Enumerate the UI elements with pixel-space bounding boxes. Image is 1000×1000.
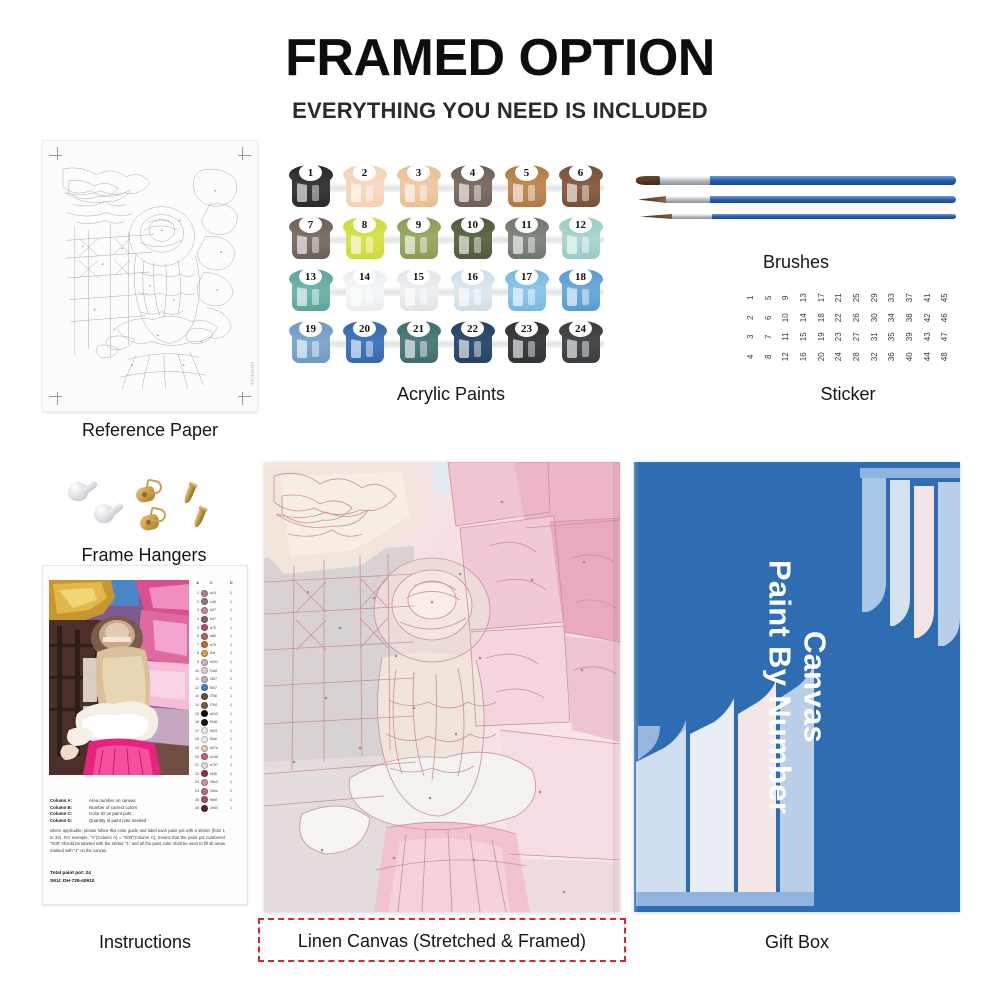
canvas-frame-edge [613,462,620,912]
pot-gloss [459,287,469,306]
pot-gloss [474,237,481,253]
pot-gloss [297,183,307,202]
chart-cell-d: 1 [230,763,236,767]
instructions-sheet: A C D 1a2412c4813b2714b4715a7016a8017a79… [42,565,248,905]
sticker-number: 4 [741,347,761,365]
pot-gloss [405,339,415,358]
chart-cell-a: 17 [191,729,199,733]
chart-swatch [201,641,208,648]
legend-key: Column B: [50,805,84,810]
legend-key: Column A: [50,798,84,803]
chart-cell-d: 1 [230,729,236,733]
paint-pot-17: 17 [504,267,550,313]
chart-row: 15a0101 [191,709,243,718]
sticker-number: 12 [776,347,796,365]
chart-swatch [201,667,208,674]
chart-swatch [201,616,208,623]
pot-number: 3 [407,164,430,181]
instructions-note: where applicable, please follow this col… [50,828,225,854]
screw-icon [183,483,197,504]
chart-cell-a: 6 [191,634,199,638]
chart-cell-d: 1 [230,798,236,802]
sticker-number: 13 [794,289,814,307]
sticker-number: 16 [794,347,814,365]
chart-cell-c: b27 [210,608,228,612]
chart-cell-d: 1 [230,712,236,716]
chart-header-a: A [191,581,199,585]
frame-hangers-group [60,470,228,542]
pot-number: 15 [407,268,430,285]
pot-gloss [420,185,427,201]
chart-cell-d: 1 [230,703,236,707]
chart-cell-a: 1 [191,591,199,595]
chart-swatch [201,659,208,666]
chart-cell-c: a07e [210,746,228,750]
chart-cell-d: 1 [230,772,236,776]
pot-gloss [528,289,535,305]
pot-number: 8 [353,216,376,233]
paint-pot-8: 8 [342,215,388,261]
page-title: FRAMED OPTION [0,28,1000,88]
chart-cell-d: 1 [230,634,236,638]
pot-gloss [312,237,319,253]
chart-cell-a: 19 [191,746,199,750]
instructions-totals: Total paint pot: 24 SKU: DH-729-40910 [50,871,95,886]
legend-key: Column C: [50,811,84,816]
chart-swatch [201,770,208,777]
chart-cell-a: 3 [191,608,199,612]
sticker-number: 24 [829,347,849,365]
chart-row: 21a7971 [191,761,243,770]
reference-paper-sidemark: REFERENCE [250,362,254,385]
chart-cell-c: a80 [210,634,228,638]
chart-cell-c: a148 [210,755,228,759]
chart-cell-d: 1 [230,789,236,793]
chart-cell-a: 5 [191,626,199,630]
chart-swatch [201,727,208,734]
sticker-number: 45 [935,289,955,307]
pot-number: 18 [569,268,592,285]
legend-row: Column D:Quantity of paint pots needed [50,818,200,823]
pot-gloss [459,339,469,358]
chart-swatch [201,736,208,743]
chart-cell-c: 2b50 [210,806,228,810]
legend-row: Column B:Number of correct colors [50,805,200,810]
pot-number: 4 [461,164,484,181]
pot-gloss [405,287,415,306]
pot-number: 5 [515,164,538,181]
pot-gloss [567,235,577,254]
paint-pot-6: 6 [558,163,604,209]
paint-pot-24: 24 [558,319,604,365]
caption-instructions: Instructions [42,932,248,953]
sticker-sheet: 1234567891011121314151617181920212223242… [742,288,954,366]
pot-number: 1 [299,164,322,181]
chart-header-row: A C D [191,578,243,587]
caption-brushes: Brushes [636,252,956,273]
chart-cell-a: 12 [191,686,199,690]
paint-pot-13: 13 [288,267,334,313]
chart-row: 6a801 [191,632,243,641]
sticker-number: 46 [935,308,955,326]
pot-gloss [366,185,373,201]
pot-gloss [420,237,427,253]
sticker-number: 10 [776,308,796,326]
gift-box-edge [634,462,639,912]
pot-gloss [459,183,469,202]
sticker-number: 34 [882,308,902,326]
brush-medium [638,196,956,203]
chart-row: 22f4461 [191,770,243,779]
paint-pot-12: 12 [558,215,604,261]
pot-number: 22 [461,320,484,337]
paint-pot-23: 23 [504,319,550,365]
caption-acrylic-paints: Acrylic Paints [288,384,614,405]
chart-row: 2328c01 [191,778,243,787]
chart-cell-d: 1 [230,660,236,664]
chart-cell-a: 8 [191,651,199,655]
sticker-number: 37 [900,289,920,307]
chart-row: 19a07e1 [191,744,243,753]
chart-cell-c: f446 [210,772,228,776]
chart-cell-c: 28c0 [210,780,228,784]
chart-row: 4b471 [191,615,243,624]
pot-number: 2 [353,164,376,181]
legend-value: Quantity of paint pots needed [89,818,146,823]
pot-gloss [366,341,373,357]
pot-gloss [474,341,481,357]
pot-gloss [405,235,415,254]
chart-row: 20a1481 [191,752,243,761]
pot-gloss [567,183,577,202]
chart-row: 7a791 [191,641,243,650]
pot-number: 17 [515,268,538,285]
chart-cell-c: f007 [210,686,228,690]
chart-cell-c: f948 [210,720,228,724]
chart-row: 9n2011 [191,658,243,667]
chart-swatch [201,779,208,786]
paint-pot-15: 15 [396,267,442,313]
legend-row: Column A:Area number on canvas [50,798,200,803]
chart-swatch [201,684,208,691]
pot-gloss [582,341,589,357]
legend-value: Color ID on paint pots [89,811,131,816]
paint-pot-21: 21 [396,319,442,365]
sticker-number: 23 [829,328,849,346]
chart-row: 18f5e61 [191,735,243,744]
chart-swatch [201,745,208,752]
chart-row: 12f0071 [191,684,243,693]
chart-row: 1a241 [191,589,243,598]
pot-gloss [528,237,535,253]
pot-gloss [474,185,481,201]
chart-cell-c: b47 [210,617,228,621]
pot-number: 16 [461,268,484,285]
chart-cell-c: f756 [210,694,228,698]
sticker-number: 28 [847,347,867,365]
chart-cell-c: a24 [210,591,228,595]
chart-cell-c: f307 [210,677,228,681]
caption-reference-paper: Reference Paper [42,420,258,441]
chart-cell-d: 1 [230,694,236,698]
pot-gloss [420,289,427,305]
chart-header-b [201,579,208,586]
chart-cell-a: 20 [191,755,199,759]
paint-pot-18: 18 [558,267,604,313]
chart-swatch [201,607,208,614]
pot-gloss [420,341,427,357]
caption-linen-canvas: Linen Canvas (Stretched & Framed) [258,931,626,952]
chart-row: 11f3071 [191,675,243,684]
linen-canvas-preview [264,462,620,912]
chart-cell-a: 10 [191,669,199,673]
sticker-number: 35 [882,328,902,346]
chart-cell-a: 15 [191,712,199,716]
sticker-number: 36 [882,347,902,365]
pot-gloss [366,237,373,253]
chart-row: 2430ec1 [191,787,243,796]
chart-cell-a: 11 [191,677,199,681]
pot-gloss [351,339,361,358]
pot-number: 6 [569,164,592,181]
chart-cell-a: 23 [191,780,199,784]
pot-gloss [351,235,361,254]
pot-number: 20 [353,320,376,337]
pot-number: 19 [299,320,322,337]
chart-swatch [201,753,208,760]
chart-cell-c: 30ec [210,789,228,793]
instructions-legend: Column A:Area number on canvasColumn B:N… [50,798,200,824]
paint-pot-7: 7 [288,215,334,261]
chart-cell-d: 1 [230,737,236,741]
chart-cell-c: f764 [210,703,228,707]
paint-pot-19: 19 [288,319,334,365]
chart-swatch [201,796,208,803]
wall-plug-pin [82,480,99,495]
total-paint-pot: Total paint pot: 24 [50,871,95,876]
chart-cell-c: n201 [210,660,228,664]
gift-box-line2: Paint By Number [763,560,798,814]
pot-gloss [582,289,589,305]
instructions-preview-image [49,580,189,775]
chart-row: 16f9481 [191,718,243,727]
pot-gloss [297,287,307,306]
d-ring-hanger-icon [136,480,162,502]
sticker-number: 26 [847,308,867,326]
pot-gloss [312,341,319,357]
reference-paper-sheet: REFERENCE [42,140,258,412]
chart-swatch [201,805,208,812]
paint-pot-2: 2 [342,163,388,209]
chart-header-d: D [230,581,236,585]
sticker-number: 27 [847,328,867,346]
sku-label: SKU: DH-729-40910 [50,879,95,884]
sticker-number: 38 [900,308,920,326]
paint-pot-20: 20 [342,319,388,365]
pot-gloss [351,287,361,306]
chart-row: 17f0031 [191,727,243,736]
chart-cell-a: 24 [191,789,199,793]
pot-gloss [582,237,589,253]
product-infographic: FRAMED OPTION EVERYTHING YOU NEED IS INC… [0,0,1000,1000]
brush-large [636,176,956,185]
chart-cell-c: a010 [210,712,228,716]
paint-pot-22: 22 [450,319,496,365]
pot-number: 14 [353,268,376,285]
paint-pot-10: 10 [450,215,496,261]
chart-cell-d: 1 [230,686,236,690]
sticker-number: 21 [829,289,849,307]
pot-gloss [351,183,361,202]
pot-gloss [582,185,589,201]
chart-row: 8f0a1 [191,649,243,658]
sticker-number: 25 [847,289,867,307]
brushes-group [636,170,956,240]
pot-gloss [366,289,373,305]
chart-cell-a: 4 [191,617,199,621]
sticker-number: 47 [935,328,955,346]
pot-gloss [312,289,319,305]
chart-cell-a: 21 [191,763,199,767]
pot-number: 24 [569,320,592,337]
paint-pot-5: 5 [504,163,550,209]
pot-gloss [513,287,523,306]
chart-row: 14f7641 [191,701,243,710]
pot-number: 7 [299,216,322,233]
chart-cell-d: 1 [230,626,236,630]
brush-fine [640,214,956,219]
chart-cell-d: 1 [230,746,236,750]
sticker-number: 22 [829,308,849,326]
pot-number: 23 [515,320,538,337]
chart-cell-d: 1 [230,600,236,604]
chart-row: 3b271 [191,606,243,615]
pot-gloss [513,339,523,358]
pot-number: 21 [407,320,430,337]
chart-swatch [201,633,208,640]
chart-swatch [201,598,208,605]
paint-pot-11: 11 [504,215,550,261]
paint-pot-4: 4 [450,163,496,209]
pot-gloss [567,339,577,358]
sticker-number: 9 [776,289,796,307]
pot-gloss [405,183,415,202]
pot-gloss [474,289,481,305]
screw-icon [193,507,207,528]
sticker-number: 33 [882,289,902,307]
paint-pot-9: 9 [396,215,442,261]
pot-gloss [312,185,319,201]
chart-cell-d: 1 [230,677,236,681]
pot-gloss [297,339,307,358]
chart-swatch [201,693,208,700]
chart-cell-c: f003 [210,729,228,733]
chart-cell-c: a797 [210,763,228,767]
sticker-number: 14 [794,308,814,326]
paint-pot-16: 16 [450,267,496,313]
chart-cell-a: 9 [191,660,199,664]
wall-plug-pin [108,502,125,517]
sticker-number: 11 [776,328,796,346]
chart-cell-d: 1 [230,651,236,655]
pot-number: 10 [461,216,484,233]
chart-cell-a: 13 [191,694,199,698]
chart-cell-d: 1 [230,755,236,759]
sticker-number: 40 [900,347,920,365]
chart-swatch [201,650,208,657]
chart-cell-a: 14 [191,703,199,707]
legend-value: Area number on canvas [89,798,136,803]
caption-gift-box: Gift Box [634,932,960,953]
chart-row: 13f7561 [191,692,243,701]
pot-number: 9 [407,216,430,233]
chart-cell-c: a79 [210,643,228,647]
chart-row: 5a701 [191,623,243,632]
sticker-number: 15 [794,328,814,346]
acrylic-paints-group: 123456789101112131415161718192021222324 [288,163,614,368]
chart-cell-c: f0a [210,651,228,655]
pot-gloss [567,287,577,306]
pot-gloss [297,235,307,254]
d-ring-hanger-icon [140,508,166,530]
chart-header-c: C [210,581,228,585]
chart-swatch [201,719,208,726]
reference-paper-lineart [59,161,241,389]
chart-cell-a: 7 [191,643,199,647]
chart-cell-a: 16 [191,720,199,724]
paint-pot-3: 3 [396,163,442,209]
chart-cell-a: 22 [191,772,199,776]
pot-gloss [513,235,523,254]
chart-cell-d: 1 [230,643,236,647]
gift-box-line1: Canvas [798,631,833,743]
instructions-color-chart: A C D 1a2412c4813b2714b4715a7016a8017a79… [191,578,243,813]
chart-cell-a: 2 [191,600,199,604]
legend-row: Column C:Color ID on paint pots [50,811,200,816]
legend-value: Number of correct colors [89,805,137,810]
legend-key: Column D: [50,818,84,823]
chart-cell-c: c48 [210,600,228,604]
pot-gloss [513,183,523,202]
chart-row: 2c481 [191,598,243,607]
paint-pot-1: 1 [288,163,334,209]
chart-swatch [201,590,208,597]
chart-cell-d: 1 [230,669,236,673]
chart-swatch [201,788,208,795]
sticker-number: 3 [741,328,761,346]
pot-gloss [459,235,469,254]
chart-cell-c: a70 [210,626,228,630]
pot-gloss [528,341,535,357]
chart-cell-c: f5e8 [210,798,228,802]
chart-swatch [201,710,208,717]
chart-cell-c: f1a9 [210,669,228,673]
chart-swatch [201,702,208,709]
chart-row: 10f1a91 [191,666,243,675]
chart-cell-d: 1 [230,608,236,612]
paint-pot-14: 14 [342,267,388,313]
chart-cell-d: 1 [230,720,236,724]
gift-box-preview: Canvas Paint By Number [634,462,960,912]
sticker-number: 48 [935,347,955,365]
pot-number: 12 [569,216,592,233]
sticker-number: 39 [900,328,920,346]
pot-gloss [528,185,535,201]
pot-number: 11 [515,216,538,233]
gift-box-label: Canvas Paint By Number [762,560,831,814]
pot-number: 13 [299,268,322,285]
chart-cell-d: 1 [230,806,236,810]
